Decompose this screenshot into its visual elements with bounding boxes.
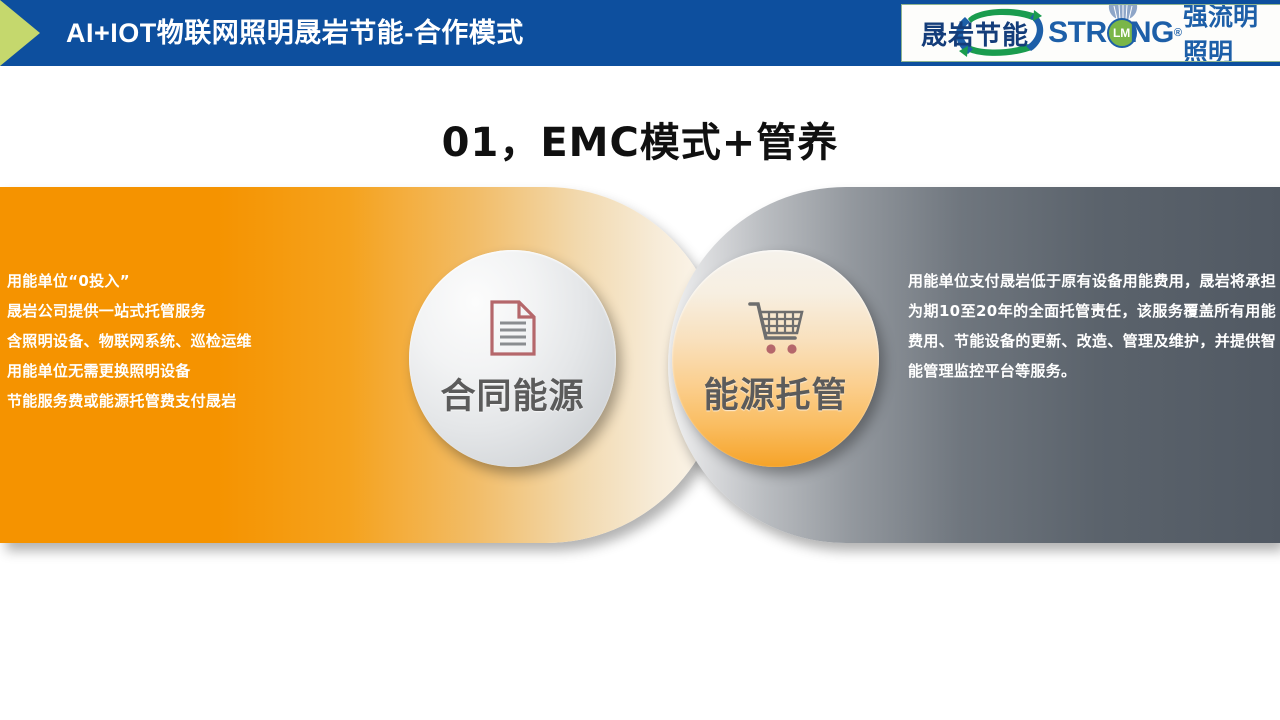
- contract-energy-line-5: 节能服务费或能源托管费支付晟岩: [7, 386, 337, 416]
- strong-o-mark-icon: LM: [1107, 18, 1130, 48]
- page-title: 01，EMC模式+管养: [0, 110, 1280, 168]
- contract-energy-line-4: 用能单位无需更换照明设备: [7, 356, 337, 386]
- brand-logo-group: 晟岩节能 STR LM NG® 强流明照明: [901, 4, 1280, 62]
- registered-mark: ®: [1174, 27, 1182, 39]
- strong-logo-cn-text: 强流明照明: [1183, 4, 1280, 62]
- shengyan-logo: 晟岩节能: [902, 4, 1048, 62]
- banner-title: AI+IOT物联网照明晟岩节能-合作模式: [66, 0, 524, 66]
- contract-energy-text-block: 用能单位“0投入” 晟岩公司提供一站式托管服务 含照明设备、物联网系统、巡检运维…: [7, 266, 337, 416]
- slide-canvas: AI+IOT物联网照明晟岩节能-合作模式 晟岩节能 STR: [0, 0, 1280, 720]
- contract-energy-line-2: 晟岩公司提供一站式托管服务: [7, 296, 337, 326]
- contract-energy-line-1: 用能单位“0投入”: [7, 266, 337, 296]
- energy-hosting-circle[interactable]: 能源托管: [672, 250, 879, 467]
- chevron-accent-icon: [0, 0, 40, 66]
- strong-word-suffix: NG: [1130, 16, 1174, 50]
- strong-logo: STR LM NG® 强流明照明: [1048, 4, 1280, 62]
- energy-hosting-text-block: 用能单位支付晟岩低于原有设备用能费用，晟岩将承担为期10至20年的全面托管责任，…: [908, 266, 1276, 386]
- contract-energy-line-3: 含照明设备、物联网系统、巡检运维: [7, 326, 337, 356]
- contract-energy-circle-label: 合同能源: [440, 368, 584, 419]
- energy-hosting-circle-label: 能源托管: [703, 367, 847, 418]
- strong-word-prefix: STR: [1048, 16, 1107, 50]
- shopping-cart-icon: [747, 300, 805, 361]
- contract-energy-circle[interactable]: 合同能源: [409, 250, 616, 467]
- document-icon: [489, 299, 537, 362]
- shengyan-logo-text: 晟岩节能: [921, 15, 1029, 52]
